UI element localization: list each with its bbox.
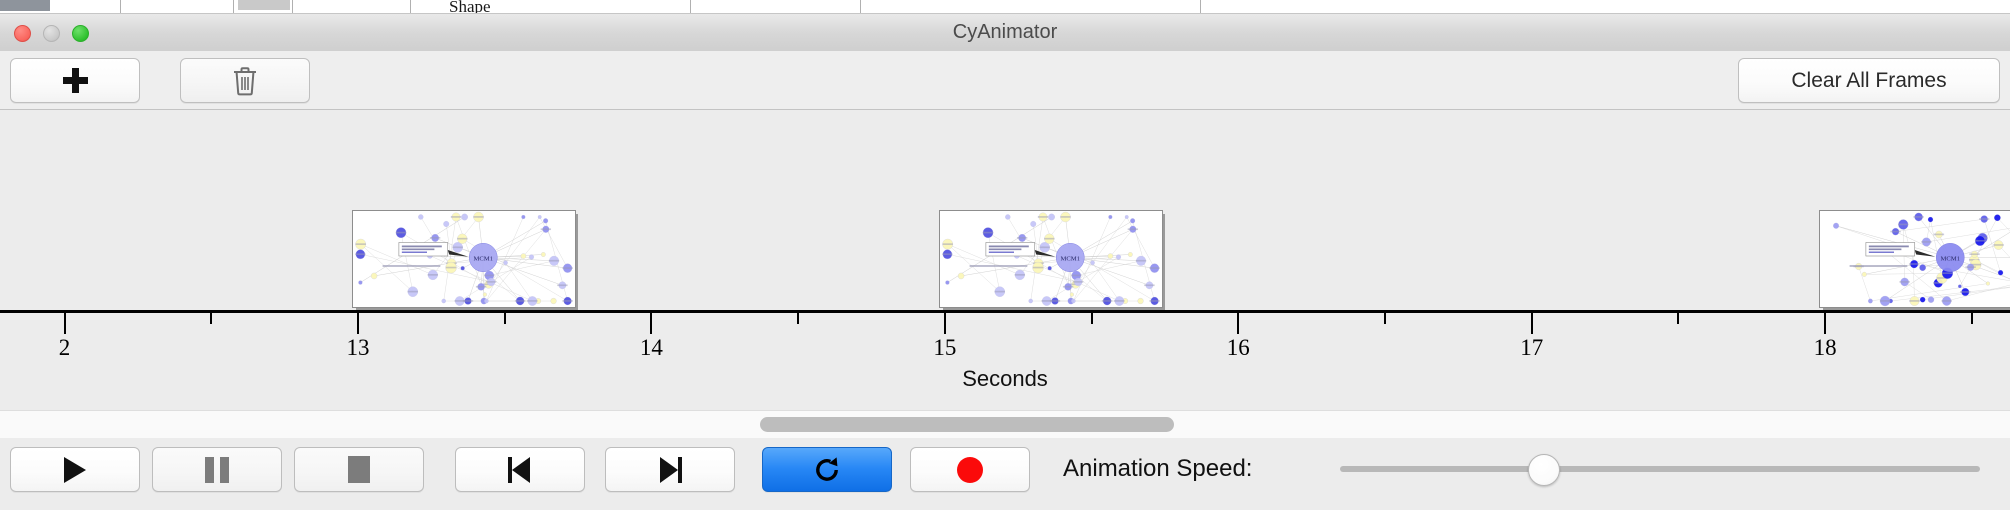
- timeline-scrollbar[interactable]: [0, 410, 2010, 439]
- minimize-icon[interactable]: [43, 25, 60, 42]
- title-bar: CyAnimator: [0, 14, 2010, 52]
- pause-icon: [205, 457, 229, 483]
- network-thumbnail-svg: MCM1: [353, 211, 575, 307]
- axis-tick-label: 13: [346, 335, 369, 361]
- timeline-frame[interactable]: MCM1: [939, 210, 1161, 306]
- bg-divider: [860, 0, 861, 14]
- loop-button[interactable]: [762, 447, 892, 492]
- network-thumbnail-svg: MCM1: [1820, 211, 2010, 307]
- bg-divider: [1200, 0, 1201, 14]
- slider-thumb[interactable]: [1528, 454, 1560, 486]
- cyanimator-window: Shape CyAnimator Clear All Frames: [0, 0, 2010, 510]
- stop-button[interactable]: [294, 447, 424, 492]
- axis-tick-label: 14: [640, 335, 663, 361]
- record-button[interactable]: [910, 447, 1030, 492]
- background-window-strip: Shape: [0, 0, 2010, 14]
- axis-tick-minor: [210, 313, 212, 324]
- skip-back-icon: [507, 457, 533, 483]
- network-thumbnail-svg: MCM1: [940, 211, 1162, 307]
- axis-tick-label: 2: [59, 335, 71, 361]
- record-icon: [957, 457, 983, 483]
- slider-track: [1340, 466, 1980, 472]
- playback-controls: Animation Speed:: [0, 438, 2010, 510]
- axis-tick-minor: [1677, 313, 1679, 324]
- previous-frame-button[interactable]: [455, 447, 585, 492]
- play-button[interactable]: [10, 447, 140, 492]
- axis-title: Seconds: [0, 366, 2010, 392]
- bg-dark-block-2: [238, 0, 290, 10]
- pause-button[interactable]: [152, 447, 282, 492]
- axis-tick-label: 17: [1520, 335, 1543, 361]
- bg-window-label: Shape: [449, 0, 491, 14]
- clear-all-frames-button[interactable]: Clear All Frames: [1738, 58, 2000, 103]
- axis-tick-major: [64, 313, 66, 334]
- frame-thumbnail: MCM1: [939, 210, 1163, 308]
- timeline-axis: [0, 310, 2010, 313]
- animation-speed-slider[interactable]: [1340, 447, 1980, 490]
- axis-tick-major: [1237, 313, 1239, 334]
- timeline-frame[interactable]: MCM1: [352, 210, 574, 306]
- bg-divider: [292, 0, 293, 14]
- trash-icon: [232, 66, 258, 96]
- bg-divider: [233, 0, 234, 14]
- svg-text:MCM1: MCM1: [473, 255, 493, 262]
- axis-tick-label: 18: [1814, 335, 1837, 361]
- svg-text:MCM1: MCM1: [1941, 255, 1961, 262]
- axis-tick-label: 16: [1227, 335, 1250, 361]
- timeline-frame[interactable]: MCM1: [1819, 210, 2010, 306]
- close-icon[interactable]: [14, 25, 31, 42]
- traffic-lights: [14, 25, 89, 42]
- axis-tick-major: [650, 313, 652, 334]
- loop-icon: [812, 455, 842, 485]
- stop-icon: [348, 456, 370, 483]
- bg-dark-block: [0, 0, 50, 11]
- play-icon: [64, 457, 86, 483]
- svg-text:MCM1: MCM1: [1060, 255, 1080, 262]
- zoom-icon[interactable]: [72, 25, 89, 42]
- axis-tick-major: [1824, 313, 1826, 334]
- frame-thumbnail: MCM1: [352, 210, 576, 308]
- next-frame-button[interactable]: [605, 447, 735, 492]
- axis-tick-minor: [797, 313, 799, 324]
- axis-tick-major: [944, 313, 946, 334]
- delete-frame-button[interactable]: [180, 58, 310, 103]
- axis-tick-minor: [1971, 313, 1973, 324]
- clear-all-frames-label: Clear All Frames: [1791, 69, 1946, 93]
- axis-tick-minor: [1384, 313, 1386, 324]
- toolbar: Clear All Frames: [0, 51, 2010, 110]
- timeline-panel[interactable]: 2131415161718 MCM1 MCM1: [0, 110, 2010, 410]
- axis-tick-minor: [504, 313, 506, 324]
- axis-tick-label: 15: [933, 335, 956, 361]
- plus-icon: [63, 68, 88, 93]
- animation-speed-label: Animation Speed:: [1063, 447, 1252, 490]
- scrollbar-thumb[interactable]: [760, 417, 1174, 432]
- axis-tick-minor: [1091, 313, 1093, 324]
- window-title: CyAnimator: [0, 14, 2010, 51]
- bg-divider: [690, 0, 691, 14]
- skip-forward-icon: [657, 457, 683, 483]
- bg-divider: [120, 0, 121, 14]
- add-frame-button[interactable]: [10, 58, 140, 103]
- axis-tick-major: [357, 313, 359, 334]
- axis-tick-major: [1531, 313, 1533, 334]
- bg-divider: [410, 0, 411, 14]
- frame-thumbnail: MCM1: [1819, 210, 2010, 308]
